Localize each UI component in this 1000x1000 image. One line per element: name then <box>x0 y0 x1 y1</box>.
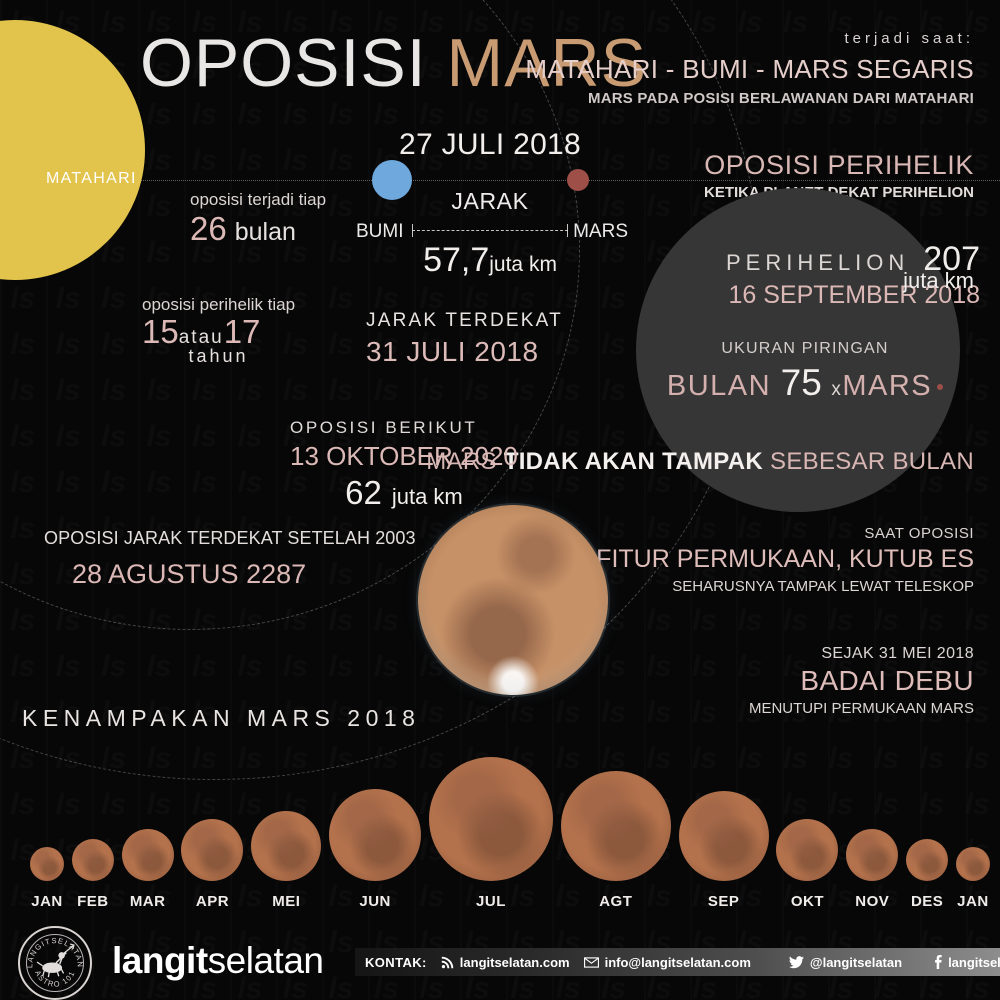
opposition-date: 27 JULI 2018 <box>370 128 610 162</box>
month-label: SEP <box>708 893 740 910</box>
appearance-month-cell: JAN <box>30 847 64 910</box>
appearance-month-cell: FEB <box>72 839 114 910</box>
title-part-1: OPOSISI <box>140 25 427 101</box>
mars-disk-okt-9 <box>776 819 838 881</box>
appearance-month-cell: MEI <box>251 811 321 910</box>
langitselatan-logo: LANGITSELATAN ASTRO 101 <box>18 926 92 1000</box>
month-label: JAN <box>31 893 63 910</box>
appearance-heading: KENAMPAKAN MARS 2018 <box>22 705 420 732</box>
appearance-month-cell: MAR <box>122 829 174 910</box>
mars-label: MARS <box>573 221 628 243</box>
disk-size-moon: BULAN <box>667 370 771 402</box>
month-label: NOV <box>855 893 889 910</box>
appearance-month-cell: NOV <box>846 829 898 910</box>
surface-sub: SEHARUSNYA TAMPAK LEWAT TELESKOP <box>596 578 974 595</box>
mars-disk-feb-1 <box>72 839 114 881</box>
facebook-icon <box>934 955 942 969</box>
top-right-kicker: terjadi saat: <box>525 30 974 47</box>
fact-26-block: oposisi terjadi tiap 26bulan <box>190 190 326 248</box>
email-text: info@langitselatan.com <box>605 955 751 970</box>
perihelion-unit-row: juta km <box>903 268 974 294</box>
email-link[interactable]: info@langitselatan.com <box>584 955 751 970</box>
storm-block: SEJAK 31 MEI 2018 BADAI DEBU MENUTUPI PE… <box>749 645 974 717</box>
twitter-link[interactable]: @langitselatan <box>789 955 902 970</box>
fact-26-unit: bulan <box>235 218 296 246</box>
facebook-text: langitselatan <box>948 955 1000 970</box>
top-right-sub: MARS PADA POSISI BERLAWANAN DARI MATAHAR… <box>525 90 974 107</box>
month-label: JUN <box>359 893 391 910</box>
storm-kicker: SEJAK 31 MEI 2018 <box>749 645 974 663</box>
top-right-block: terjadi saat: MATAHARI - BUMI - MARS SEG… <box>525 30 974 107</box>
mars-photo <box>418 505 608 695</box>
sun-label: MATAHARI <box>46 170 137 188</box>
month-label: MEI <box>272 893 300 910</box>
perihelion-label: PERIHELION <box>726 250 909 276</box>
claim-part-c: SEBESAR BULAN <box>770 448 974 475</box>
kontak-label: KONTAK: <box>365 955 427 970</box>
rss-icon <box>441 956 454 969</box>
claim-part-b: TIDAK AKAN TAMPAK <box>504 448 763 475</box>
opposition-distance-block: 27 JULI 2018 JARAK BUMI MARS 57,7juta km <box>370 128 610 280</box>
disk-size-formula: BULAN 75 xMARS <box>640 362 970 404</box>
month-label: MAR <box>130 893 166 910</box>
perihelic-heading: OPOSISI PERIHELIK <box>704 150 974 181</box>
mars-disk-jan-0 <box>30 847 64 881</box>
appearance-month-cell: JUN <box>329 789 421 910</box>
distance-bar: BUMI MARS <box>370 221 610 239</box>
mars-disk-sep-8 <box>679 791 769 881</box>
distance-bar-line <box>412 230 568 231</box>
brand-part-2: selatan <box>208 940 324 981</box>
disk-size-times: x <box>831 379 842 400</box>
mars-disk-mei-4 <box>251 811 321 881</box>
disk-size-block: UKURAN PIRINGAN BULAN 75 xMARS <box>640 340 970 404</box>
distance-label: JARAK <box>370 188 610 215</box>
distance-bar-cap-left <box>412 224 413 237</box>
distance-bar-cap-right <box>567 224 568 237</box>
mars-disk-jan-12 <box>956 847 990 881</box>
closest-after-2003-date: 28 AGUSTUS 2287 <box>72 559 416 590</box>
fact-26-label: oposisi terjadi tiap <box>190 190 326 210</box>
month-label: JUL <box>476 893 506 910</box>
fact-26-value: 26 <box>190 210 227 247</box>
mars-disk-des-11 <box>906 839 948 881</box>
next-opposition-date: 13 OKTOBER 2020 <box>290 441 518 472</box>
fact-15-value-b: 17 <box>224 313 261 350</box>
infographic-poster: lslslslslslslslslslslslslslslslslslslsls… <box>0 0 1000 1000</box>
month-label: FEB <box>77 893 109 910</box>
fact-15-conj: atau <box>179 327 224 348</box>
disk-size-label: UKURAN PIRINGAN <box>640 340 970 358</box>
month-label: JAN <box>957 893 989 910</box>
mars-disk-mar-2 <box>122 829 174 881</box>
next-opposition-value: 62 <box>345 474 382 511</box>
mars-dot-icon <box>937 384 943 390</box>
brand-wordmark: langitselatan <box>112 940 323 982</box>
distance-unit: juta km <box>489 253 557 276</box>
mars-disk-apr-3 <box>181 819 243 881</box>
perihelion-unit: juta km <box>903 268 974 293</box>
fact-15-17-values: 15atau17 <box>142 315 295 350</box>
storm-sub: MENUTUPI PERMUKAAN MARS <box>749 700 974 717</box>
brand-part-1: langit <box>112 940 208 981</box>
mars-disk-agt-7 <box>561 771 671 881</box>
fact-15-value-a: 15 <box>142 313 179 350</box>
closest-date: 31 JULI 2018 <box>366 336 563 368</box>
twitter-text: @langitselatan <box>810 955 902 970</box>
surface-headline: FITUR PERMUKAAN, KUTUB ES <box>596 545 974 574</box>
next-opposition-unit: juta km <box>392 484 463 509</box>
appearance-month-cell: OKT <box>776 819 838 910</box>
month-label: DES <box>911 893 943 910</box>
contact-bar: KONTAK: langitselatan.com info@langitsel… <box>355 948 1000 976</box>
footer: LANGITSELATAN ASTRO 101 langitselatan <box>0 918 1000 1000</box>
website-text: langitselatan.com <box>460 955 570 970</box>
twitter-icon <box>789 956 804 969</box>
surface-block: SAAT OPOSISI FITUR PERMUKAAN, KUTUB ES S… <box>596 525 974 595</box>
appearance-month-cell: DES <box>906 839 948 910</box>
distance-value-row: 57,7juta km <box>370 241 610 280</box>
month-label: AGT <box>599 893 632 910</box>
fact-26-value-row: 26bulan <box>190 210 326 248</box>
distance-value: 57,7 <box>423 241 489 279</box>
appearance-month-cell: SEP <box>679 791 769 910</box>
storm-headline: BADAI DEBU <box>749 665 974 697</box>
top-right-headline: MATAHARI - BUMI - MARS SEGARIS <box>525 54 974 85</box>
next-opposition-block: OPOSISI BERIKUT 13 OKTOBER 2020 62juta k… <box>290 418 518 512</box>
mars-disk-jul-6 <box>429 757 553 881</box>
next-opposition-label: OPOSISI BERIKUT <box>290 418 518 438</box>
disk-size-factor: 75 <box>781 362 822 403</box>
closest-after-2003-block: OPOSISI JARAK TERDEKAT SETELAH 2003 28 A… <box>44 528 416 590</box>
appearance-month-cell: AGT <box>561 771 671 910</box>
closest-block: JARAK TERDEKAT 31 JULI 2018 <box>366 310 563 368</box>
closest-after-2003-label: OPOSISI JARAK TERDEKAT SETELAH 2003 <box>44 528 416 549</box>
appearance-month-cell: JUL <box>429 757 553 910</box>
website-link[interactable]: langitselatan.com <box>441 955 570 970</box>
surface-kicker: SAAT OPOSISI <box>596 525 974 542</box>
appearance-month-cell: JAN <box>956 847 990 910</box>
month-label: APR <box>196 893 229 910</box>
facebook-link[interactable]: langitselatan <box>934 955 1000 970</box>
closest-label: JARAK TERDEKAT <box>366 310 563 332</box>
appearance-disk-row: JANFEBMARAPRMEIJUNJULAGTSEPOKTNOVDESJAN <box>30 760 990 910</box>
earth-label: BUMI <box>356 221 404 243</box>
envelope-icon <box>584 957 599 968</box>
appearance-month-cell: APR <box>181 819 243 910</box>
mars-disk-nov-10 <box>846 829 898 881</box>
disk-size-mars: MARS <box>842 370 932 402</box>
month-label: OKT <box>791 893 824 910</box>
logo-sagittarius-icon: LANGITSELATAN ASTRO 101 <box>20 928 90 998</box>
next-opposition-distance-row: 62juta km <box>290 474 518 512</box>
fact-15-17-block: oposisi perihelik tiap 15atau17 tahun <box>142 295 295 367</box>
mars-disk-jun-5 <box>329 789 421 881</box>
fact-15-17-label: oposisi perihelik tiap <box>142 295 295 315</box>
